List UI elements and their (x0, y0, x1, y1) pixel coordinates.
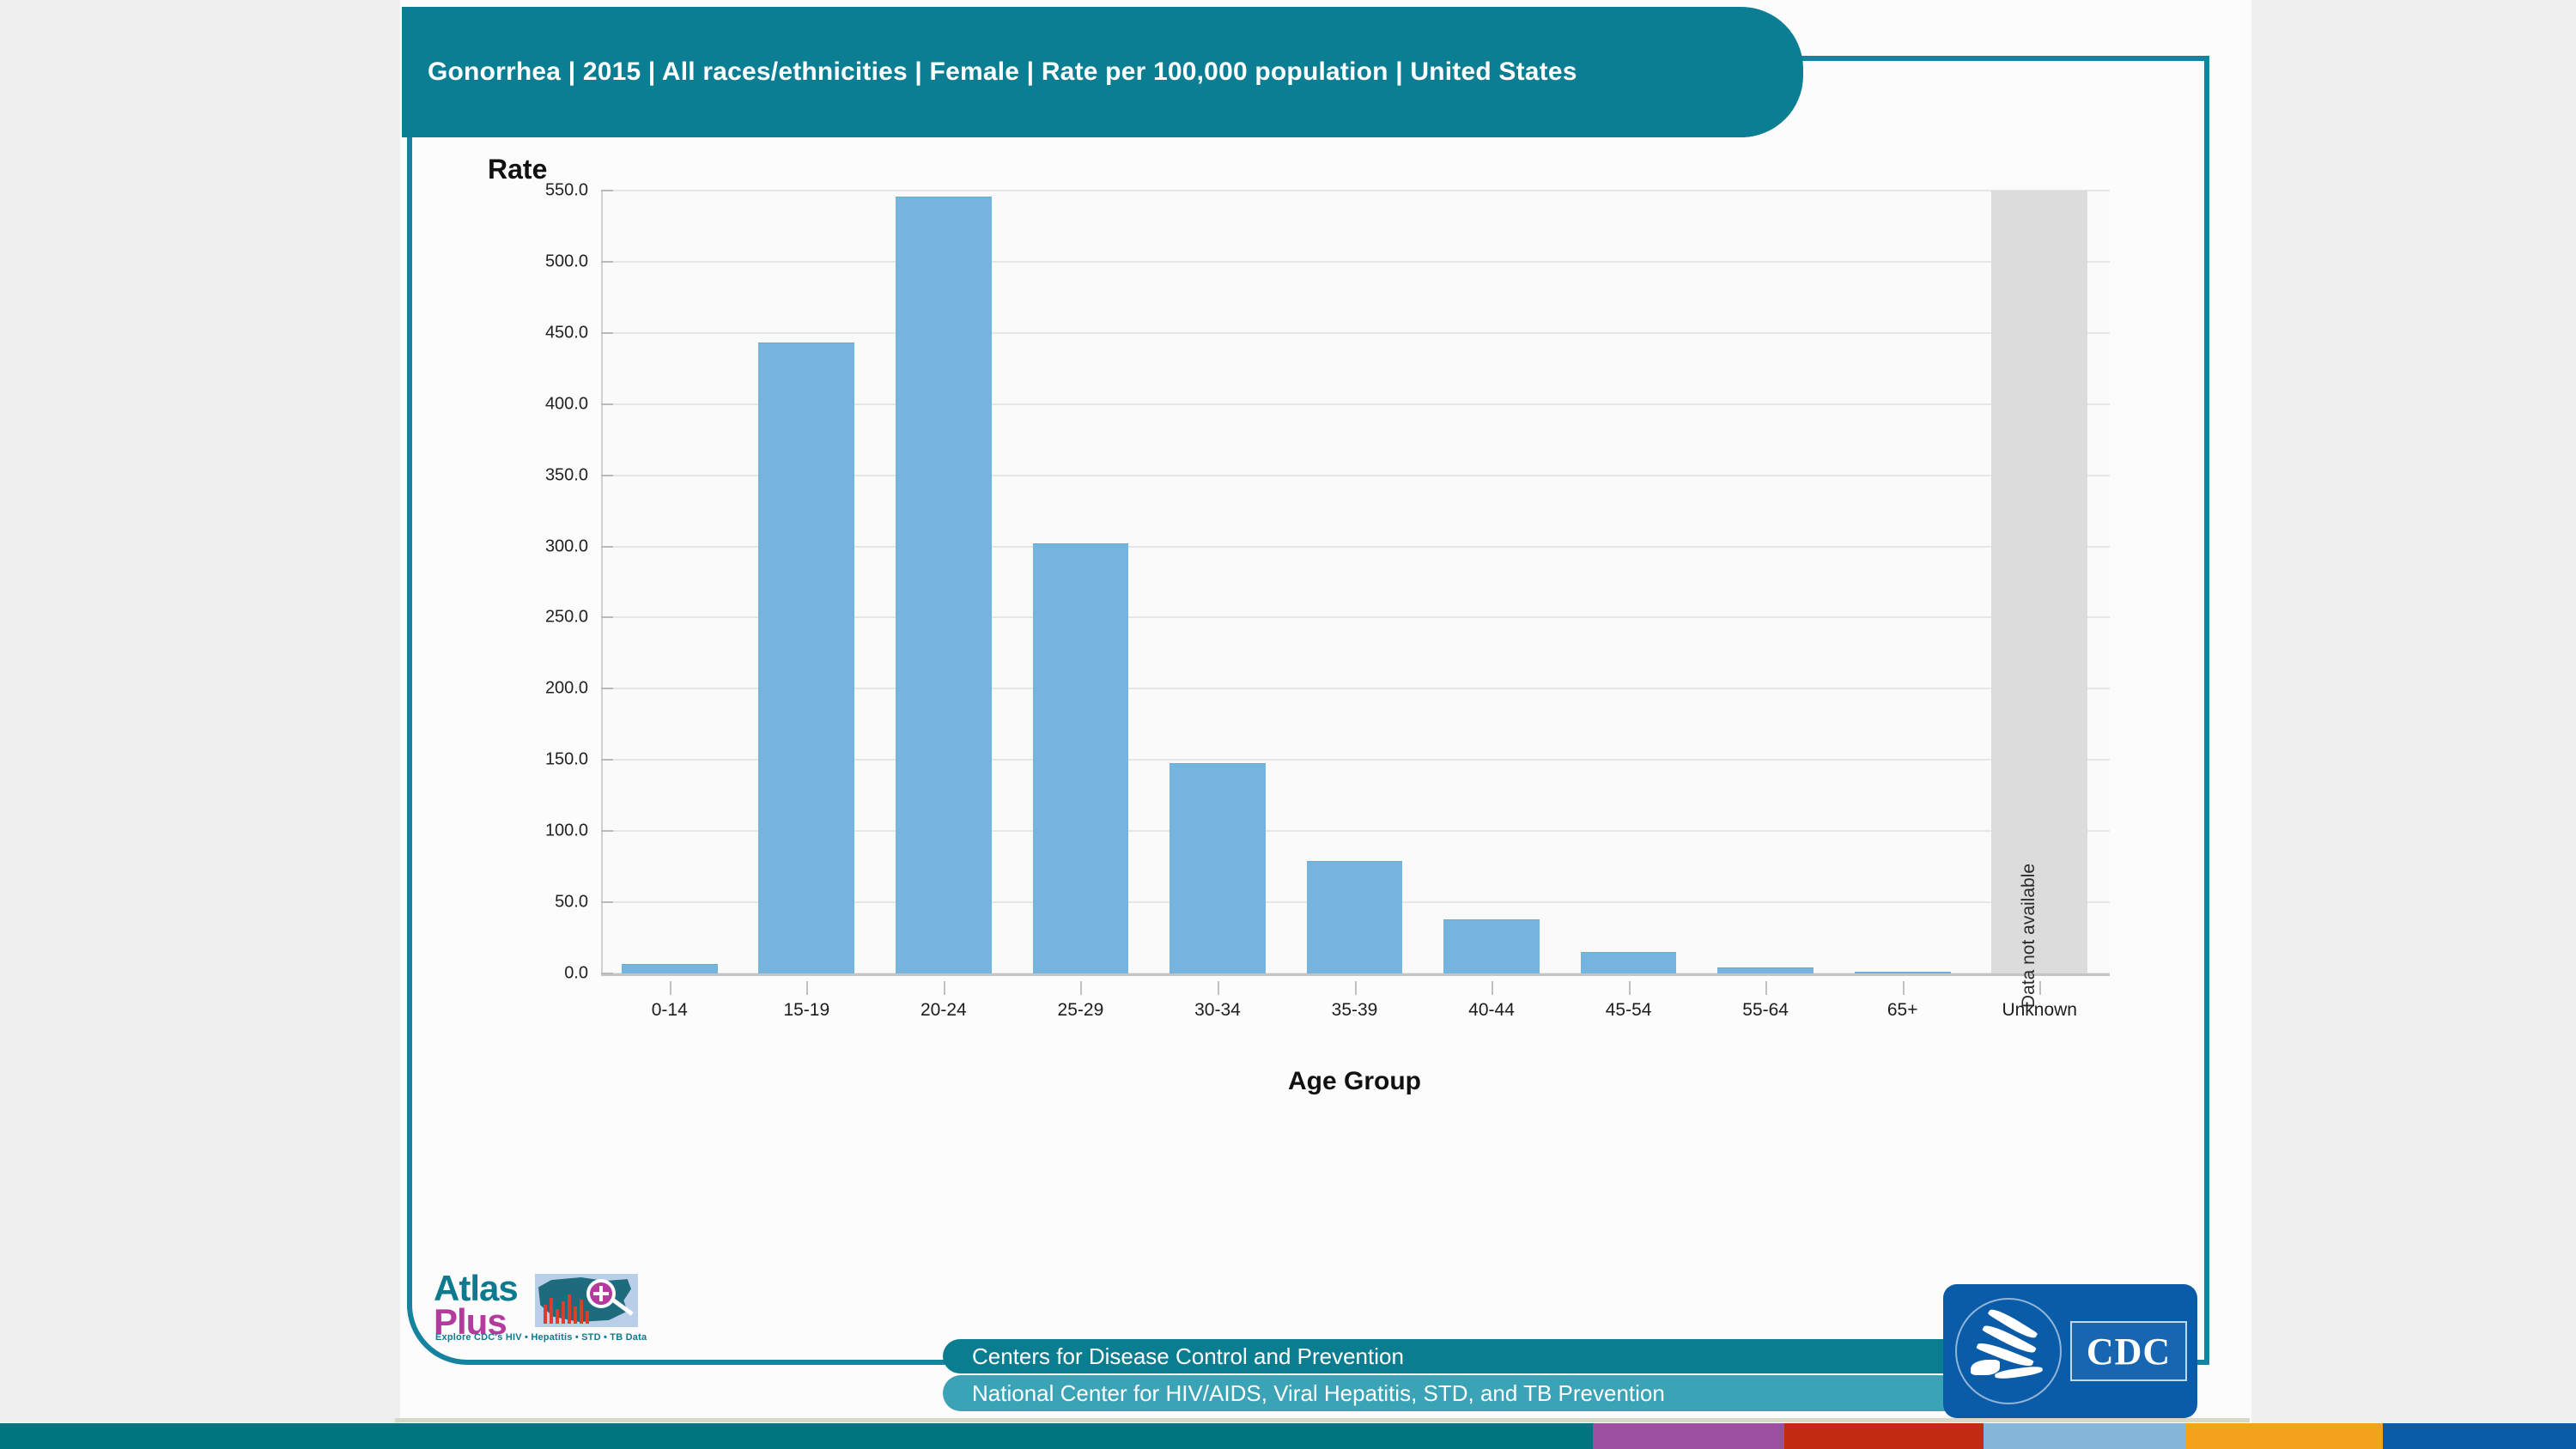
x-axis-tick-mark (806, 981, 808, 995)
bar[interactable] (1581, 952, 1677, 973)
x-axis-tick-mark (670, 981, 671, 995)
cdc-wordmark: CDC (2070, 1321, 2187, 1381)
footer-line-2: National Center for HIV/AIDS, Viral Hepa… (943, 1380, 1665, 1407)
y-axis-tick-mark (601, 688, 613, 689)
y-axis-tick-mark (601, 261, 613, 263)
magnifier-map-icon (535, 1274, 638, 1327)
y-axis-tick-mark (601, 403, 613, 405)
y-axis-tick-label: 200.0 (545, 679, 588, 699)
bar-slot: Data not available (1991, 191, 2087, 973)
bar-slot (1717, 191, 1814, 973)
y-axis-tick-label: 450.0 (545, 323, 588, 343)
bar[interactable] (1443, 919, 1540, 973)
cdc-wordmark-text: CDC (2087, 1330, 2171, 1373)
bar-slot (1170, 191, 1266, 973)
bar[interactable] (1170, 763, 1266, 973)
bar-slot (1307, 191, 1403, 973)
strip-segment-light-blue (1984, 1423, 2185, 1449)
y-axis-tick-mark (601, 973, 613, 974)
x-axis-tick-label: 30-34 (1194, 1000, 1241, 1021)
y-axis-tick-label: 550.0 (545, 181, 588, 201)
strip-segment-red (1784, 1423, 1984, 1449)
strip-segment-amber (2185, 1423, 2383, 1449)
x-axis-tick-mark (1765, 981, 1767, 995)
y-axis-tick-mark (601, 546, 613, 548)
x-axis-tick-label: 55-64 (1742, 1000, 1789, 1021)
footer-line-1: Centers for Disease Control and Preventi… (943, 1343, 1404, 1370)
y-axis-tick-mark (601, 901, 613, 903)
x-axis-tick-label: 40-44 (1468, 1000, 1515, 1021)
y-axis-tick-label: 500.0 (545, 252, 588, 271)
atlasplus-tagline: Explore CDC's HIV • Hepatitis • STD • TB… (435, 1332, 647, 1343)
bar[interactable] (1033, 543, 1129, 973)
bar[interactable] (1855, 972, 1951, 973)
bar[interactable] (1307, 861, 1403, 973)
x-axis-tick-mark (1903, 981, 1905, 995)
x-axis-tick-label: 20-24 (920, 1000, 967, 1021)
strip-hairline (395, 1418, 2250, 1422)
bar[interactable] (758, 343, 854, 973)
atlasplus-logo[interactable]: Atlas Plus Explore CDC's HIV • Hepatitis… (434, 1272, 640, 1344)
frame-top-line (1771, 56, 2209, 61)
strip-segment-teal (0, 1423, 1593, 1449)
bar-data-not-available[interactable]: Data not available (1991, 191, 2087, 973)
y-axis-title: Rate (488, 154, 547, 185)
slide-canvas: Gonorrhea | 2015 | All races/ethnicities… (0, 0, 2576, 1449)
chart-header-banner: Gonorrhea | 2015 | All races/ethnicities… (402, 7, 1803, 137)
y-axis-tick-label: 250.0 (545, 608, 588, 627)
bar[interactable] (1717, 967, 1814, 973)
x-axis-tick-mark (1218, 981, 1219, 995)
strip-segment-purple (1593, 1423, 1784, 1449)
y-axis-tick-label: 350.0 (545, 465, 588, 485)
x-axis-tick-mark (2039, 981, 2041, 995)
x-axis-tick-mark (944, 981, 945, 995)
mini-bars-icon (544, 1294, 589, 1324)
bar-slot (1033, 191, 1129, 973)
x-axis-tick-label: Unknown (2002, 1000, 2077, 1021)
frame-right-line (2204, 56, 2209, 1365)
y-axis-tick-labels: 0.050.0100.0150.0200.0250.0300.0350.0400… (412, 191, 588, 973)
footer-banner-ncha: National Center for HIV/AIDS, Viral Hepa… (943, 1375, 1958, 1411)
x-axis-title: Age Group (601, 1067, 2108, 1096)
cdc-logo-block[interactable]: CDC (1943, 1284, 2197, 1418)
y-axis-tick-label: 50.0 (555, 893, 588, 912)
y-axis-tick-mark (601, 332, 613, 334)
x-axis-tick-mark (1080, 981, 1082, 995)
x-axis-tick-labels: 0-1415-1920-2425-2930-3435-3940-4445-545… (601, 981, 2108, 1041)
x-axis-tick-label: 15-19 (783, 1000, 829, 1021)
x-axis-tick-label: 65+ (1887, 1000, 1918, 1021)
bar-slot (622, 191, 718, 973)
footer-banner-cdc: Centers for Disease Control and Preventi… (943, 1339, 1958, 1373)
magnifier-lens-icon (586, 1279, 616, 1308)
chart-area: Rate 0.050.0100.0150.0200.0250.0300.0350… (412, 142, 2198, 1258)
x-axis-tick-label: 25-29 (1058, 1000, 1104, 1021)
x-axis-tick-label: 45-54 (1606, 1000, 1652, 1021)
bar[interactable] (896, 197, 992, 973)
y-axis-tick-mark (601, 616, 613, 618)
bar[interactable] (622, 964, 718, 973)
y-axis-tick-mark (601, 759, 613, 761)
y-axis-tick-mark (601, 830, 613, 832)
y-axis-tick-label: 400.0 (545, 394, 588, 414)
bar-slot (1855, 191, 1951, 973)
x-axis-line (601, 973, 2110, 976)
x-axis-tick-mark (1492, 981, 1493, 995)
bar-slot (1443, 191, 1540, 973)
y-axis-tick-label: 150.0 (545, 750, 588, 770)
bar-slot (896, 191, 992, 973)
x-axis-tick-label: 0-14 (652, 1000, 688, 1021)
bar-slot (758, 191, 854, 973)
hhs-seal-icon (1955, 1298, 2062, 1404)
y-axis-tick-mark (601, 475, 613, 476)
x-axis-tick-mark (1629, 981, 1631, 995)
strip-segment-blue (2383, 1423, 2576, 1449)
x-axis-tick-label: 35-39 (1332, 1000, 1378, 1021)
x-axis-tick-mark (1355, 981, 1357, 995)
y-axis-tick-label: 300.0 (545, 537, 588, 556)
bar-slot (1581, 191, 1677, 973)
y-axis-tick-label: 100.0 (545, 822, 588, 841)
page-title: Gonorrhea | 2015 | All races/ethnicities… (402, 58, 1577, 87)
bottom-color-strip (0, 1423, 2576, 1449)
y-axis-tick-label: 0.0 (564, 964, 588, 984)
y-axis-tick-mark (601, 190, 613, 191)
bar-series: Data not available (601, 191, 2108, 973)
